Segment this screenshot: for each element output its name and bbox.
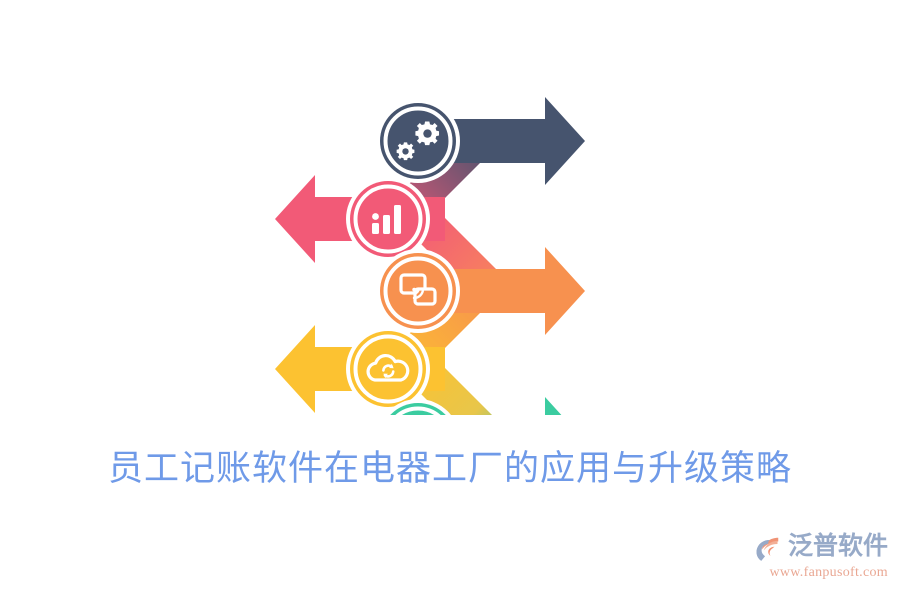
- five-arrow-process-diagram: [255, 85, 605, 415]
- page-title: 员工记账软件在电器工厂的应用与升级策略: [0, 443, 900, 495]
- watermark-brand: 泛普软件: [788, 531, 888, 561]
- arrow-row-gears[interactable]: [376, 97, 585, 185]
- watermark-top-row: 泛普软件: [738, 528, 888, 564]
- watermark: 泛普软件 www.fanpusoft.com: [738, 528, 888, 592]
- fanpu-logo-icon: [755, 531, 785, 561]
- page-canvas: 员工记账软件在电器工厂的应用与升级策略 泛普软件 www.fanpusoft.c…: [0, 0, 900, 600]
- watermark-url: www.fanpusoft.com: [738, 564, 888, 582]
